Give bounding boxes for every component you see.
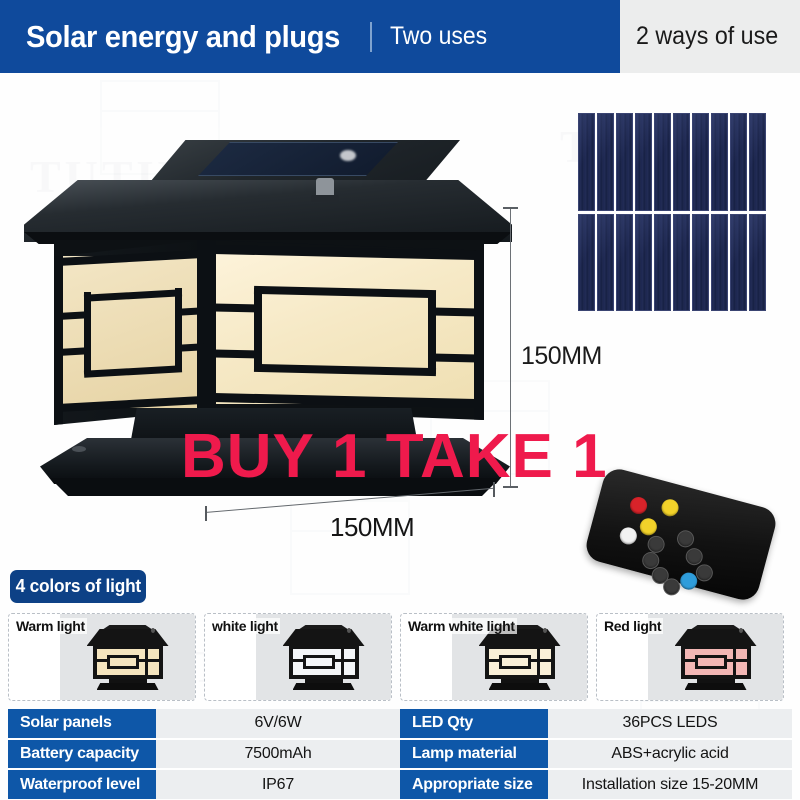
table-row: Appropriate size Installation size 15-20…	[400, 770, 792, 799]
colors-of-light-badge: 4 colors of light	[10, 570, 146, 603]
color-thumbnail-label: white light	[210, 618, 280, 634]
spec-column-left: Solar panels 6V/6W Battery capacity 7500…	[8, 709, 400, 799]
spec-column-right: LED Qty 36PCS LEDS Lamp material ABS+acr…	[400, 709, 792, 799]
height-dimension-label: 150MM	[521, 342, 602, 371]
mini-lamp-icon	[477, 625, 563, 691]
color-thumbnail-row: Warm light	[8, 613, 792, 701]
header-divider	[370, 22, 372, 52]
color-thumbnail[interactable]: Red light	[596, 613, 784, 701]
header-side-label: 2 ways of use	[636, 22, 778, 51]
mini-lamp-icon	[281, 625, 367, 691]
color-thumbnail[interactable]: Warm light	[8, 613, 196, 701]
mini-lamp-icon	[673, 625, 759, 691]
color-thumbnail[interactable]: white light	[204, 613, 392, 701]
mini-lamp-icon	[85, 625, 171, 691]
spec-key: LED Qty	[400, 709, 548, 738]
lamp-body	[54, 240, 484, 410]
remote-button-red	[628, 495, 649, 516]
spec-value: 7500mAh	[156, 740, 400, 769]
lamp-base-hole	[72, 446, 86, 452]
lamp-face-front	[206, 240, 484, 420]
page-title: Solar energy and plugs	[26, 19, 340, 55]
spec-key: Waterproof level	[8, 770, 156, 799]
table-row: Solar panels 6V/6W	[8, 709, 400, 740]
remote-control-image	[592, 487, 772, 627]
header-side-note: 2 ways of use	[620, 0, 800, 73]
remote-button-yellow	[660, 497, 681, 518]
table-row: Battery capacity 7500mAh	[8, 740, 400, 771]
color-thumbnail-label: Red light	[602, 618, 663, 634]
lamp-face-left	[54, 240, 206, 425]
remote-body	[583, 466, 780, 604]
spec-value: IP67	[156, 770, 400, 799]
width-dimension-label: 150MM	[330, 512, 414, 543]
spec-value: Installation size 15-20MM	[548, 770, 792, 799]
spec-key: Solar panels	[8, 709, 156, 738]
solar-panel-bottom-half	[578, 214, 766, 312]
spec-key: Lamp material	[400, 740, 548, 769]
table-row: Waterproof level IP67	[8, 770, 400, 799]
lamp-glint	[340, 150, 356, 161]
header-banner: Solar energy and plugs Two uses	[0, 0, 620, 73]
color-thumbnail-image	[648, 614, 783, 701]
table-row: Lamp material ABS+acrylic acid	[400, 740, 792, 771]
spec-key: Appropriate size	[400, 770, 548, 799]
lamp-knob	[316, 178, 334, 198]
remote-button-yellow2	[638, 516, 659, 537]
product-marketing-image: TUTU TUTU TUTU Solar energy and plugs Tw…	[0, 0, 800, 800]
remote-button-4h	[675, 528, 696, 549]
spec-value: 6V/6W	[156, 709, 400, 738]
spec-value: 36PCS LEDS	[548, 709, 792, 738]
remote-button-white	[618, 526, 639, 547]
color-thumbnail[interactable]: Warm white light	[400, 613, 588, 701]
color-thumbnail-label: Warm light	[14, 618, 87, 634]
solar-panel-top-half	[578, 113, 766, 211]
specification-table: Solar panels 6V/6W Battery capacity 7500…	[8, 709, 792, 799]
table-row: LED Qty 36PCS LEDS	[400, 709, 792, 740]
spec-key: Battery capacity	[8, 740, 156, 769]
spec-value: ABS+acrylic acid	[548, 740, 792, 769]
promo-overlay-text: BUY 1 TAKE 1	[181, 421, 608, 492]
header-subtitle: Two uses	[390, 22, 487, 51]
colors-of-light-label: 4 colors of light	[15, 576, 140, 597]
color-thumbnail-label: Warm white light	[406, 618, 517, 634]
lamp-solar-cell	[198, 142, 398, 176]
solar-panel-image	[578, 113, 766, 311]
